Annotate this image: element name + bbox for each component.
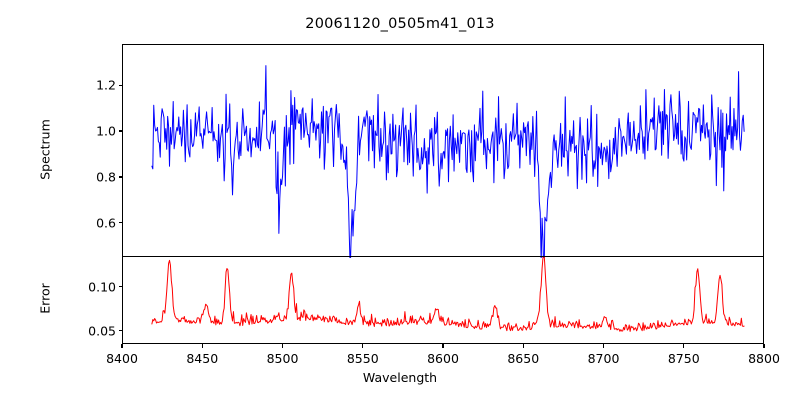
- tick-mark: [763, 344, 764, 348]
- error-plot-panel: [122, 256, 764, 344]
- wavelength-tick-label: 8450: [186, 351, 218, 366]
- error-axis-label: Error: [38, 268, 53, 330]
- spectrum-ytick-label: 1.2: [76, 78, 116, 93]
- tick-mark: [282, 344, 283, 348]
- wavelength-tick-label: 8750: [668, 351, 700, 366]
- tick-mark: [442, 344, 443, 348]
- tick-mark: [119, 222, 123, 223]
- tick-mark: [119, 286, 123, 287]
- wavelength-axis-label: Wavelength: [0, 370, 800, 385]
- tick-mark: [119, 330, 123, 331]
- spectrum-plot-panel: [122, 44, 764, 257]
- figure-canvas: 20061120_0505m41_013 Spectrum Error Wave…: [0, 0, 800, 400]
- tick-mark: [119, 130, 123, 131]
- page-title: 20061120_0505m41_013: [0, 16, 800, 32]
- wavelength-tick-label: 8800: [748, 351, 780, 366]
- error-trace: [123, 257, 765, 345]
- spectrum-ytick-label: 0.6: [76, 215, 116, 230]
- tick-mark: [523, 344, 524, 348]
- spectrum-ytick-label: 0.8: [76, 169, 116, 184]
- tick-mark: [603, 344, 604, 348]
- tick-mark: [119, 85, 123, 86]
- spectrum-trace: [123, 45, 765, 258]
- error-ytick-label: 0.10: [76, 279, 116, 294]
- tick-mark: [683, 344, 684, 348]
- tick-mark: [202, 344, 203, 348]
- tick-mark: [121, 344, 122, 348]
- spectrum-axis-label: Spectrum: [38, 104, 53, 194]
- spectrum-ytick-label: 1.0: [76, 124, 116, 139]
- wavelength-tick-label: 8600: [427, 351, 459, 366]
- wavelength-tick-label: 8700: [588, 351, 620, 366]
- error-ytick-label: 0.05: [76, 323, 116, 338]
- wavelength-tick-label: 8400: [106, 351, 138, 366]
- tick-mark: [119, 176, 123, 177]
- tick-mark: [362, 344, 363, 348]
- wavelength-tick-label: 8550: [347, 351, 379, 366]
- wavelength-tick-label: 8650: [507, 351, 539, 366]
- wavelength-tick-label: 8500: [267, 351, 299, 366]
